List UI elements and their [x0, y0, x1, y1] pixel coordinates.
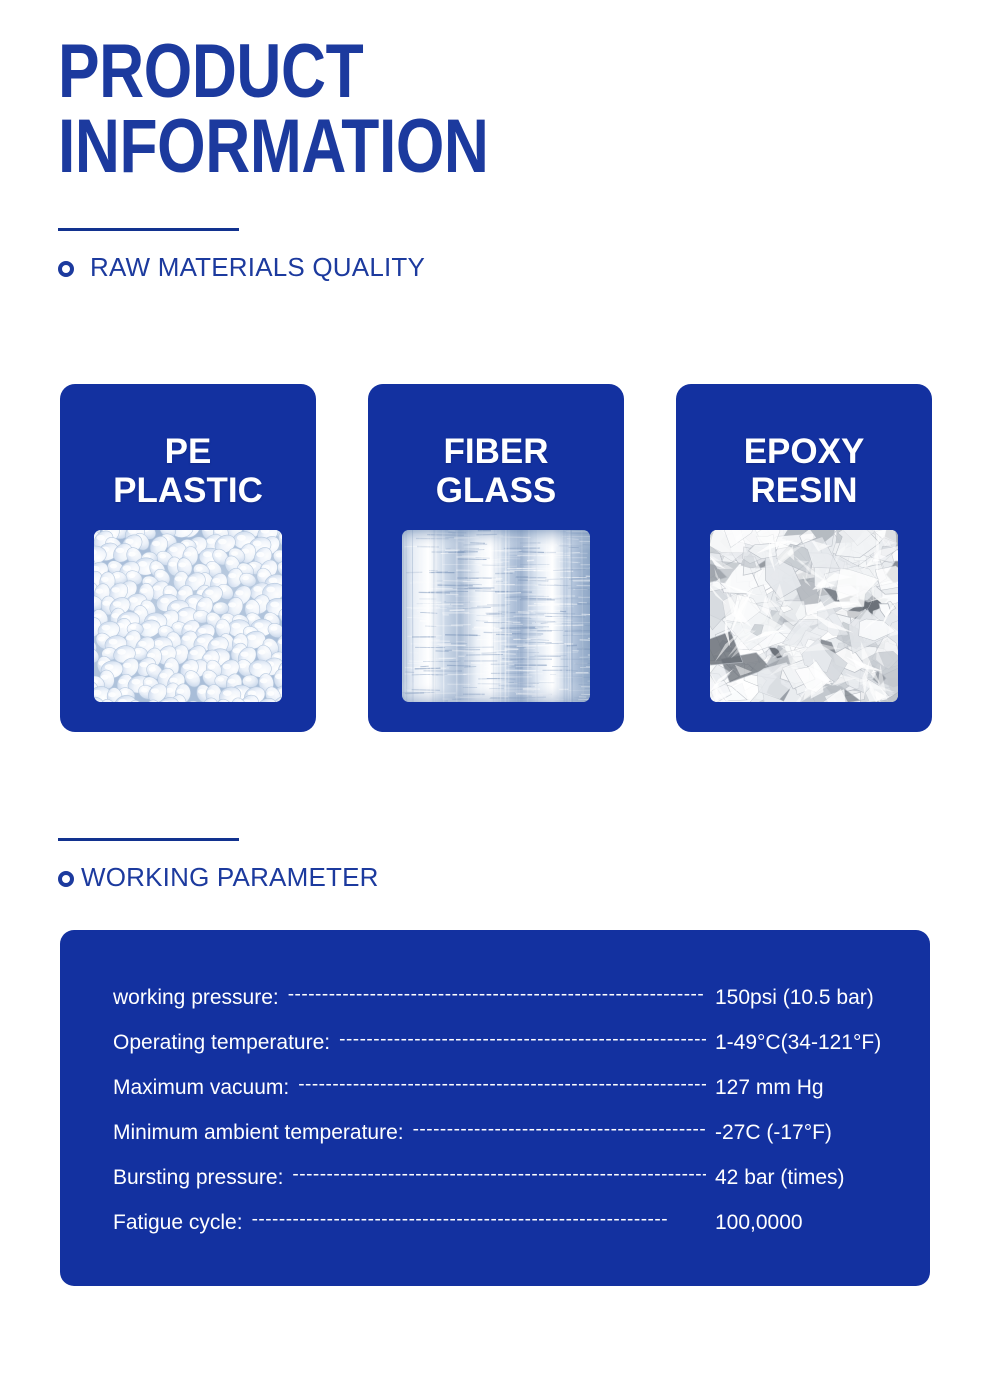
material-card-epoxy-resin[interactable]: EPOXY RESIN [676, 384, 932, 732]
parameter-row: Fatigue cycle: -------------------------… [60, 1211, 930, 1256]
material-card-pe-plastic[interactable]: PE PLASTIC [60, 384, 316, 732]
parameter-leader: ----------------------------------------… [288, 984, 706, 1006]
ring-bullet-icon [58, 261, 74, 277]
section-title-raw-materials: RAW MATERIALS QUALITY [90, 252, 425, 283]
parameter-leader: ----------------------------------------… [339, 1029, 706, 1051]
parameter-label: Fatigue cycle: [113, 1211, 243, 1235]
parameter-value: 1-49°C(34-121°F) [715, 1031, 908, 1055]
parameter-leader: ----------------------------------------… [292, 1164, 706, 1186]
page-title: PRODUCT INFORMATION [58, 34, 780, 184]
section-divider [58, 838, 239, 841]
parameter-leader: ----------------------------------------… [413, 1119, 706, 1141]
epoxy-resin-crystals-photo [710, 530, 898, 702]
material-card-fiber-glass[interactable]: FIBER GLASS [368, 384, 624, 732]
parameter-label: Minimum ambient temperature: [113, 1121, 404, 1145]
parameter-row: working pressure: ----------------------… [60, 986, 930, 1031]
section-divider [58, 228, 239, 231]
parameter-label: Maximum vacuum: [113, 1076, 289, 1100]
parameter-leader: ----------------------------------------… [298, 1074, 706, 1096]
parameter-leader: ----------------------------------------… [252, 1209, 706, 1231]
material-card-title: PE PLASTIC [60, 432, 316, 510]
parameter-row: Maximum vacuum: ------------------------… [60, 1076, 930, 1121]
parameter-label: Operating temperature: [113, 1031, 330, 1055]
section-header-raw-materials: RAW MATERIALS QUALITY [58, 228, 425, 283]
parameter-value: 42 bar (times) [715, 1166, 908, 1190]
parameter-row: Bursting pressure: ---------------------… [60, 1166, 930, 1211]
parameter-label: working pressure: [113, 986, 279, 1010]
material-card-list: PE PLASTIC [60, 384, 932, 732]
pe-plastic-pellets-photo [94, 530, 282, 702]
fiber-glass-strands-photo [402, 530, 590, 702]
parameter-label: Bursting pressure: [113, 1166, 283, 1190]
parameter-value: -27C (-17°F) [715, 1121, 908, 1145]
material-card-title: EPOXY RESIN [676, 432, 932, 510]
parameter-row: Operating temperature: -----------------… [60, 1031, 930, 1076]
parameter-value: 127 mm Hg [715, 1076, 908, 1100]
parameter-value: 150psi (10.5 bar) [715, 986, 908, 1010]
material-card-title: FIBER GLASS [368, 432, 624, 510]
parameter-row: Minimum ambient temperature: -----------… [60, 1121, 930, 1166]
parameter-value: 100,0000 [715, 1211, 908, 1235]
section-header-working-parameter: WORKING PARAMETER [58, 838, 379, 893]
section-title-working-parameter: WORKING PARAMETER [81, 862, 379, 893]
working-parameter-panel: working pressure: ----------------------… [60, 930, 930, 1286]
ring-bullet-icon [58, 871, 74, 887]
